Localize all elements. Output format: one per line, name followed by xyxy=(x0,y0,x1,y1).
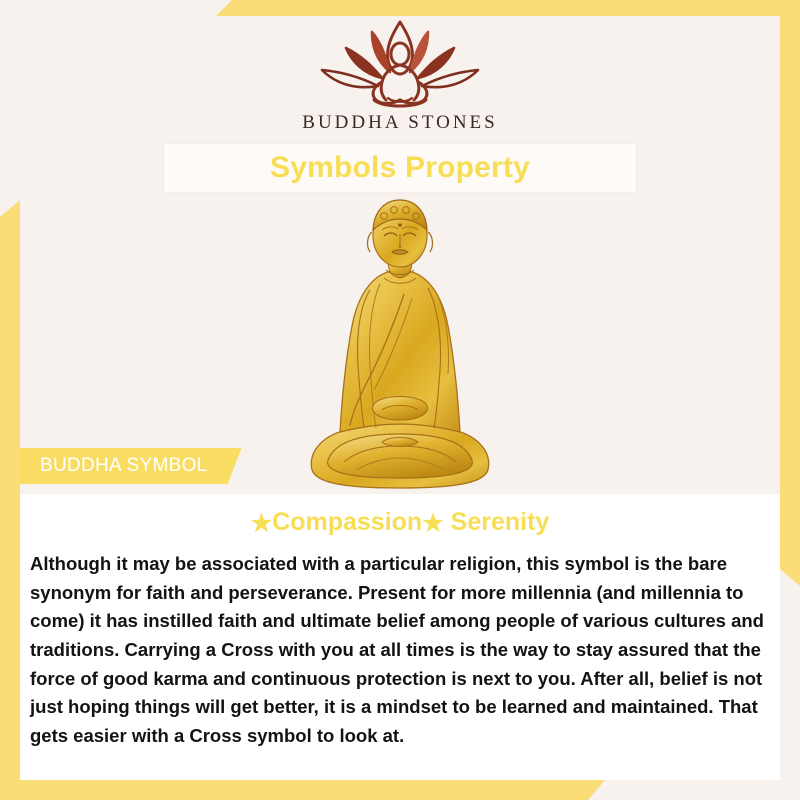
frame-accent-top xyxy=(216,0,800,16)
frame-accent-bottom xyxy=(0,780,605,800)
keyword-serenity: Serenity xyxy=(451,508,550,536)
title-banner: Symbols Property xyxy=(163,143,637,193)
description-paragraph: Although it may be associated with a par… xyxy=(20,550,780,751)
brand-logo: BUDDHA STONES xyxy=(0,18,800,134)
keyword-compassion: Compassion xyxy=(272,508,422,536)
content-panel: ★Compassion★ Serenity Although it may be… xyxy=(20,494,780,780)
buddha-symbol-tag-label: BUDDHA SYMBOL xyxy=(40,455,208,477)
lotus-meditation-icon xyxy=(312,18,488,110)
poster-root: BUDDHA STONES Symbols Property xyxy=(0,0,800,800)
buddha-symbol-tag: BUDDHA SYMBOL xyxy=(20,448,242,484)
star-icon-left: ★ xyxy=(251,510,273,537)
star-icon-right: ★ xyxy=(422,510,444,537)
page-title: Symbols Property xyxy=(270,151,530,185)
seated-buddha-statue-icon xyxy=(300,198,500,498)
brand-name: BUDDHA STONES xyxy=(0,112,800,134)
keywords-heading: ★Compassion★ Serenity xyxy=(20,508,780,538)
